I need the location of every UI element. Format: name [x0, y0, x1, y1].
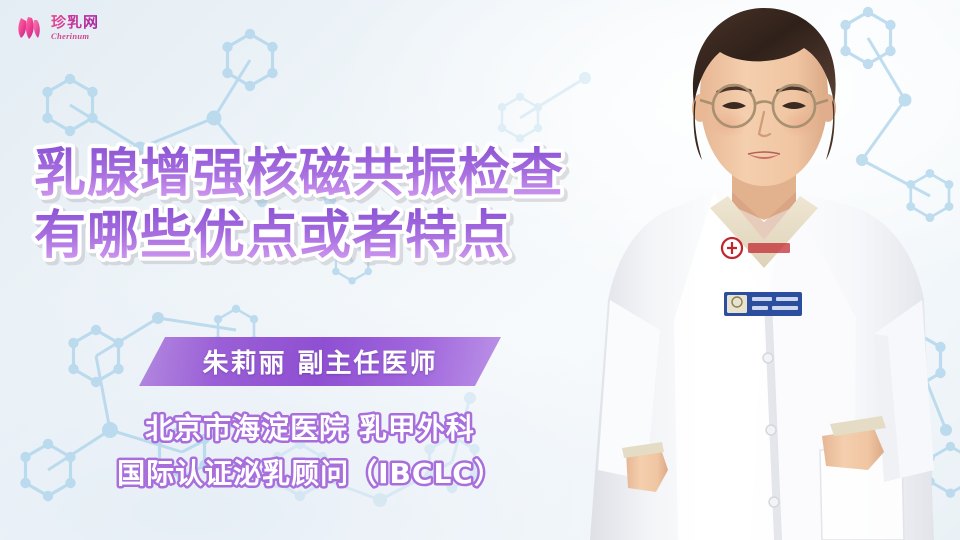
svg-text:北京市海淀医院 乳甲外科: 北京市海淀医院 乳甲外科 — [145, 412, 475, 445]
butterfly-petal-icon — [12, 11, 46, 45]
logo-name-en: Cherinum — [51, 32, 99, 41]
promo-banner: 珍乳网 Cherinum 乳腺增强核磁共振检查 乳腺增强核磁共振检查 乳腺增强核… — [0, 0, 960, 540]
title-line-1: 乳腺增强核磁共振检查 乳腺增强核磁共振检查 乳腺增强核磁共振检查 — [30, 141, 630, 203]
affiliation-line-1: 北京市海淀医院 乳甲外科 北京市海淀医院 乳甲外科 — [0, 405, 620, 449]
svg-text:有哪些优点或者特点: 有哪些优点或者特点 — [34, 206, 511, 266]
svg-text:国际认证泌乳顾问（IBCLC）: 国际认证泌乳顾问（IBCLC） — [117, 457, 503, 490]
site-logo[interactable]: 珍乳网 Cherinum — [12, 6, 152, 50]
page-title: 乳腺增强核磁共振检查 乳腺增强核磁共振检查 乳腺增强核磁共振检查 有哪些优点或者… — [30, 141, 630, 265]
affiliation-line-2: 国际认证泌乳顾问（IBCLC） 国际认证泌乳顾问（IBCLC） — [0, 449, 620, 495]
speaker-name-banner: 朱莉丽 副主任医师 — [139, 337, 501, 386]
svg-text:乳腺增强核磁共振检查: 乳腺增强核磁共振检查 — [34, 144, 564, 204]
doctor-head — [692, 8, 836, 186]
logo-name-cn: 珍乳网 — [51, 15, 99, 30]
title-line-2: 有哪些优点或者特点 有哪些优点或者特点 有哪些优点或者特点 — [30, 203, 630, 265]
doctor-id-badge — [724, 292, 802, 316]
speaker-name-text: 朱莉丽 副主任医师 — [139, 337, 501, 386]
speaker-affiliation: 北京市海淀医院 乳甲外科 北京市海淀医院 乳甲外科 国际认证泌乳顾问（IBCLC… — [0, 405, 620, 495]
doctor-portrait-photo — [582, 0, 942, 540]
